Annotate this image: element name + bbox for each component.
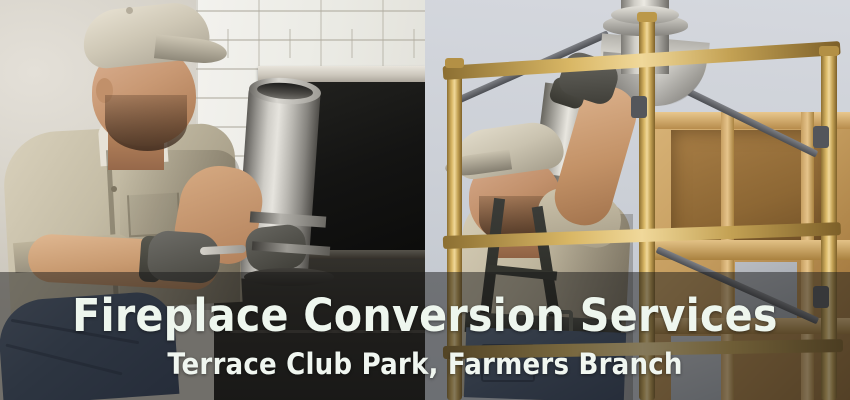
scaffold-clamp — [631, 96, 647, 118]
scaffold-pole-cap — [445, 58, 464, 68]
scaffold-pole-cap — [637, 12, 657, 22]
banner-title: Fireplace Conversion Services — [72, 293, 778, 338]
banner-subtitle: Terrace Club Park, Farmers Branch — [167, 350, 682, 379]
cap-top-button — [126, 7, 133, 14]
service-banner: Fireplace Conversion Services Terrace Cl… — [0, 0, 850, 400]
shirt-button — [111, 186, 117, 192]
brick-course-offset — [227, 29, 425, 58]
scaffold-clamp — [813, 126, 829, 148]
banner-text-block: Fireplace Conversion Services Terrace Cl… — [0, 272, 850, 400]
scaffold-pole-cap — [819, 46, 839, 56]
technician-beard — [105, 95, 187, 151]
